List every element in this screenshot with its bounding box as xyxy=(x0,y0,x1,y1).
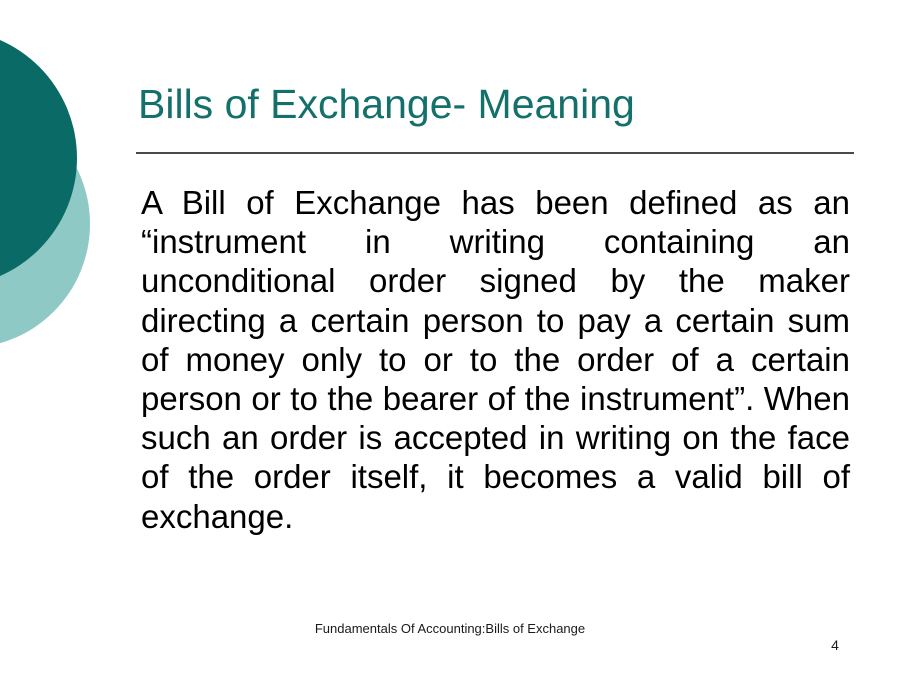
title-divider-rule xyxy=(136,152,854,154)
decorative-circle-light-teal xyxy=(0,100,90,348)
slide-page-number: 4 xyxy=(800,637,870,654)
slide-body-paragraph: A Bill of Exchange has been defined as a… xyxy=(141,183,850,536)
presentation-slide: Bills of Exchange- Meaning A Bill of Exc… xyxy=(0,0,900,675)
decorative-circle-dark-teal xyxy=(0,29,77,287)
slide-title: Bills of Exchange- Meaning xyxy=(138,78,854,130)
slide-footer: Fundamentals Of Accounting:Bills of Exch… xyxy=(225,620,675,637)
